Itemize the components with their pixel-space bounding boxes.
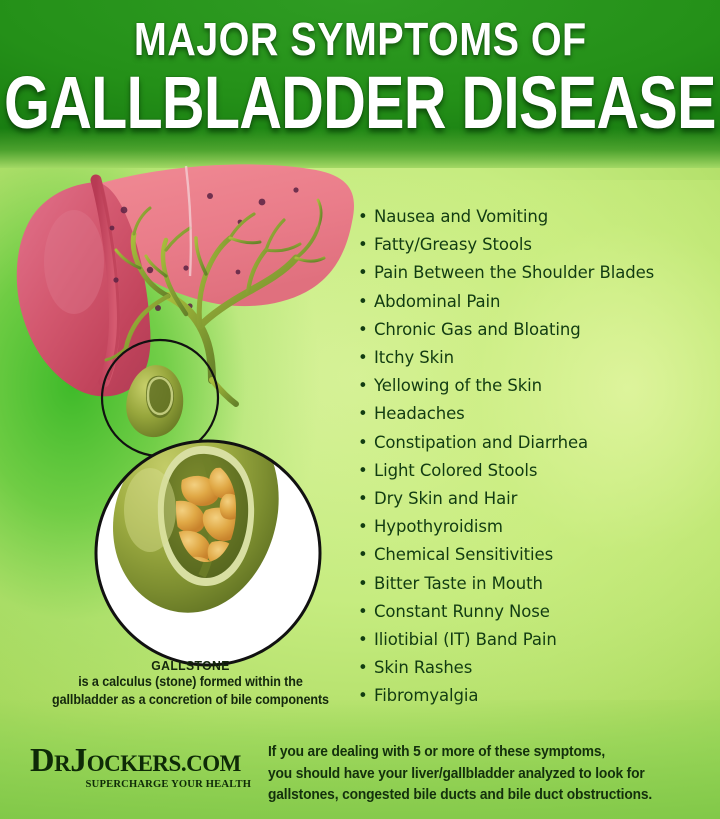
symptom-item: Dry Skin and Hair — [358, 485, 714, 513]
symptom-item: Bitter Taste in Mouth — [358, 570, 714, 598]
caption-line-1: is a calculus (stone) formed within the — [30, 673, 351, 691]
symptom-item: Skin Rashes — [358, 654, 714, 682]
gallstone-caption: GALLSTONE is a calculus (stone) formed w… — [18, 658, 363, 709]
footer-note-line-2: you should have your liver/gallbladder a… — [268, 764, 686, 786]
symptom-item: Constant Runny Nose — [358, 598, 714, 626]
logo-ockers: OCKERS — [87, 751, 181, 776]
footer-note: If you are dealing with 5 or more of the… — [268, 742, 708, 807]
symptom-item: Abdominal Pain — [358, 288, 714, 316]
symptom-item: Iliotibial (IT) Band Pain — [358, 626, 714, 654]
symptom-item: Light Colored Stools — [358, 457, 714, 485]
logo-d: D — [30, 742, 54, 779]
footer-note-line-3: gallstones, congested bile ducts and bil… — [268, 785, 686, 807]
brand-logo[interactable]: DRJOCKERS.COM SUPERCHARGE YOUR HEALTH — [30, 744, 260, 790]
title-line-2: GALLBLADDER DISEASE — [4, 66, 716, 140]
symptom-item: Chemical Sensitivities — [358, 541, 714, 569]
liver-gallbladder-illustration — [0, 150, 360, 690]
symptom-item: Yellowing of the Skin — [358, 372, 714, 400]
caption-heading: GALLSTONE — [28, 658, 352, 673]
symptom-item: Fatty/Greasy Stools — [358, 231, 714, 259]
symptom-item: Hypothyroidism — [358, 513, 714, 541]
logo-j: J — [70, 742, 87, 779]
caption-line-2: gallbladder as a concretion of bile comp… — [30, 691, 351, 709]
symptom-item: Itchy Skin — [358, 344, 714, 372]
logo-com: .COM — [181, 751, 241, 776]
logo-r: R — [54, 751, 70, 776]
symptom-item: Pain Between the Shoulder Blades — [358, 259, 714, 287]
symptom-item: Chronic Gas and Bloating — [358, 316, 714, 344]
page-title: MAJOR SYMPTOMS OF GALLBLADDER DISEASE — [0, 0, 720, 168]
symptom-list: Nausea and VomitingFatty/Greasy StoolsPa… — [358, 203, 714, 711]
brand-tagline: SUPERCHARGE YOUR HEALTH — [86, 778, 257, 790]
symptom-item: Nausea and Vomiting — [358, 203, 714, 231]
infographic-poster: MAJOR SYMPTOMS OF GALLBLADDER DISEASE — [0, 0, 720, 819]
title-line-1: MAJOR SYMPTOMS OF — [134, 16, 587, 62]
footer-note-line-1: If you are dealing with 5 or more of the… — [268, 742, 686, 764]
symptom-item: Fibromyalgia — [358, 682, 714, 710]
symptom-item: Constipation and Diarrhea — [358, 429, 714, 457]
symptom-item: Headaches — [358, 400, 714, 428]
brand-logo-wordmark: DRJOCKERS.COM — [30, 744, 260, 781]
